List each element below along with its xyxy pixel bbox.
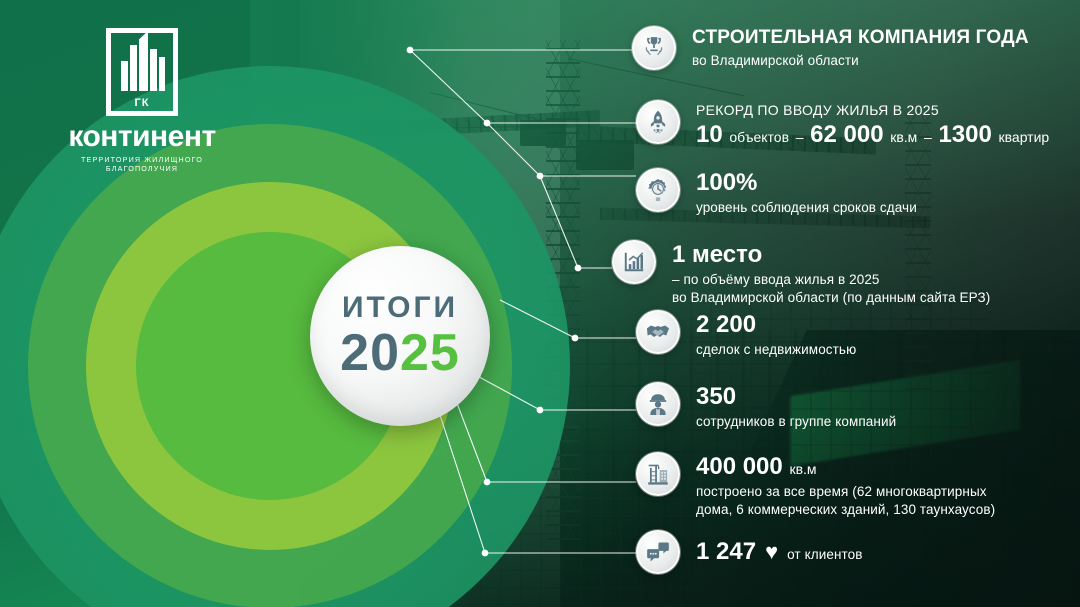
- logo-building-tower: [139, 31, 148, 91]
- stat-value: 1 место: [672, 241, 990, 269]
- stat-text: РЕКОРД ПО ВВОДУ ЖИЛЬЯ В 2025 10 объектов…: [696, 100, 1049, 150]
- crane-building-icon: [636, 452, 680, 496]
- stat-sub: от клиентов: [787, 546, 862, 564]
- logo-building-bar: [159, 57, 165, 91]
- stat-sub: сотрудников в группе компаний: [696, 413, 896, 431]
- stat-text: 2 200 сделок с недвижимостью: [696, 310, 856, 359]
- logo-building-mark: ГК: [106, 28, 178, 116]
- stat-text: 100% уровень соблюдения сроков сдачи: [696, 168, 917, 217]
- stat-sub-line2: дома, 6 коммерческих зданий, 130 таунхау…: [696, 501, 995, 519]
- stat-value-3: 1300: [938, 121, 991, 148]
- logo-tagline: ТЕРРИТОРИЯ ЖИЛИЩНОГО БЛАГОПОЛУЧИЯ: [52, 155, 232, 173]
- logo-building-bar: [121, 61, 128, 91]
- logo-gk-label: ГК: [111, 97, 173, 109]
- company-logo: ГК континент ТЕРРИТОРИЯ ЖИЛИЩНОГО БЛАГОП…: [52, 28, 232, 173]
- stat-dash-1: –: [796, 129, 804, 145]
- worker-hardhat-icon: [636, 382, 680, 426]
- stat-sub: уровень соблюдения сроков сдачи: [696, 199, 917, 217]
- stat-sub: во Владимирской области: [692, 52, 1029, 70]
- clock-gear-icon: [636, 168, 680, 212]
- stat-text: 350 сотрудников в группе компаний: [696, 382, 896, 431]
- stat-sub-line1: – по объёму ввода жилья в 2025: [672, 271, 990, 289]
- stat-row-reviews: 1 247 ♥ от клиентов: [636, 530, 863, 574]
- stat-row-first-place: 1 место – по объёму ввода жилья в 2025 в…: [612, 240, 990, 306]
- stat-word-1: объектов: [729, 129, 789, 145]
- stat-sub-line2: во Владимирской области (по данным сайта…: [672, 289, 990, 307]
- stat-value: 350: [696, 383, 896, 411]
- stat-word-3: квартир: [999, 129, 1050, 145]
- stat-word-2: кв.м: [890, 129, 917, 145]
- logo-building-bar: [150, 49, 157, 91]
- stat-sub: сделок с недвижимостью: [696, 341, 856, 359]
- stat-values: 10 объектов – 62 000 кв.м – 1300 квартир: [696, 121, 1049, 149]
- stat-value: 400 000: [696, 453, 783, 480]
- stat-text: 1 247 ♥ от клиентов: [696, 538, 863, 566]
- stat-sub-line1: построено за все время (62 многоквартирн…: [696, 483, 995, 501]
- center-year-first: 20: [340, 324, 400, 382]
- handshake-icon: [636, 310, 680, 354]
- stat-dash-2: –: [924, 129, 932, 145]
- infographic-stage: ИТОГИ 2025 ГК континент ТЕРРИТОРИЯ ЖИЛИЩ…: [0, 0, 1080, 607]
- heart-icon: ♥: [765, 539, 778, 565]
- stat-value-1: 10: [696, 121, 723, 148]
- stat-unit: кв.м: [789, 461, 816, 477]
- stat-text: СТРОИТЕЛЬНАЯ КОМПАНИЯ ГОДА во Владимирск…: [692, 26, 1029, 70]
- stat-value-line: 400 000 кв.м: [696, 453, 995, 481]
- stat-row-company-of-year: СТРОИТЕЛЬНАЯ КОМПАНИЯ ГОДА во Владимирск…: [632, 26, 1029, 70]
- stat-value: 1 247: [696, 538, 756, 566]
- stat-headline: РЕКОРД ПО ВВОДУ ЖИЛЬЯ В 2025: [696, 101, 1049, 119]
- stat-value: 100%: [696, 169, 917, 197]
- stat-row-housing-record: РЕКОРД ПО ВВОДУ ЖИЛЬЯ В 2025 10 объектов…: [636, 100, 1049, 150]
- stat-headline: СТРОИТЕЛЬНАЯ КОМПАНИЯ ГОДА: [692, 27, 1029, 49]
- stat-value: 2 200: [696, 311, 856, 339]
- stat-row-employees: 350 сотрудников в группе компаний: [636, 382, 896, 431]
- trophy-laurel-icon: [632, 26, 676, 70]
- chat-reviews-icon: [636, 530, 680, 574]
- stat-row-deadline-compliance: 100% уровень соблюдения сроков сдачи: [636, 168, 917, 217]
- rocket-icon: [636, 100, 680, 144]
- center-badge: ИТОГИ 2025: [310, 246, 490, 426]
- bar-chart-growth-icon: [612, 240, 656, 284]
- logo-name: континент: [52, 122, 232, 152]
- center-year-second: 25: [400, 324, 460, 382]
- stat-row-deals: 2 200 сделок с недвижимостью: [636, 310, 856, 359]
- stat-value-2: 62 000: [810, 121, 883, 148]
- center-title: ИТОГИ: [342, 293, 458, 323]
- logo-building-bar: [130, 45, 137, 91]
- stat-text: 1 место – по объёму ввода жилья в 2025 в…: [672, 240, 990, 306]
- stat-text: 400 000 кв.м построено за все время (62 …: [696, 452, 995, 518]
- stat-row-total-built: 400 000 кв.м построено за все время (62 …: [636, 452, 995, 518]
- center-year: 2025: [340, 327, 460, 379]
